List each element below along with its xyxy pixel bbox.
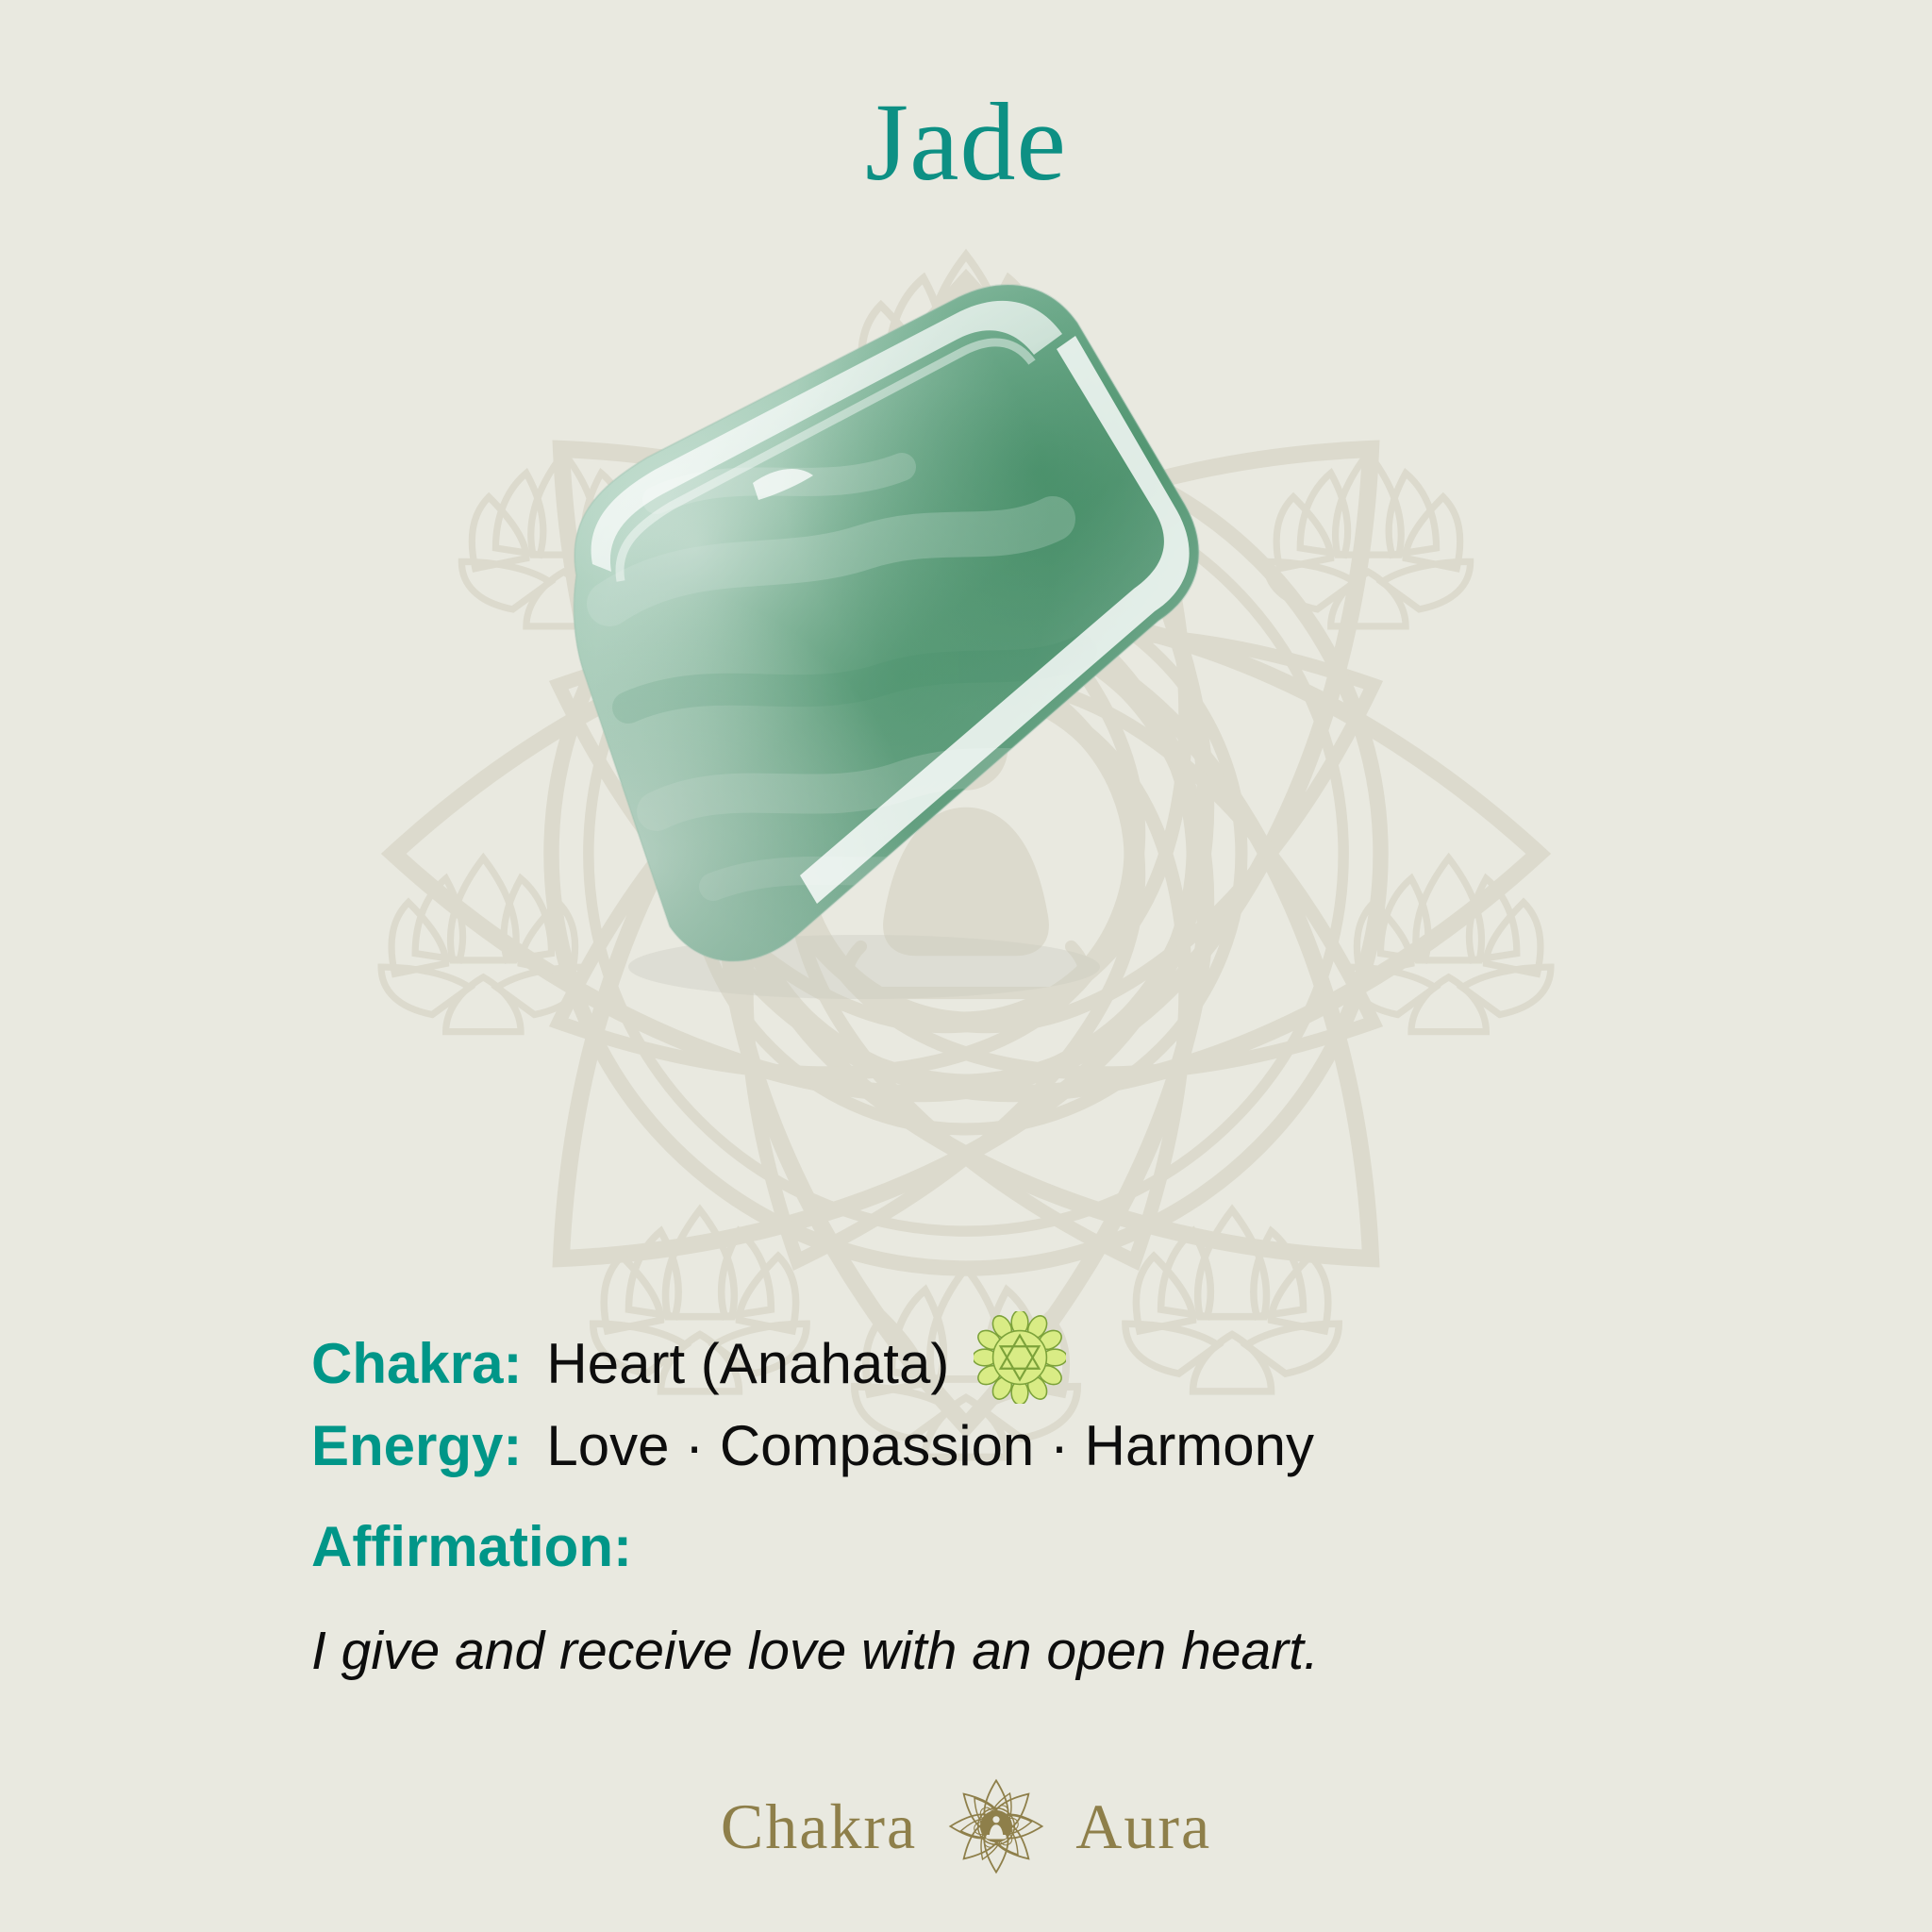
chakra-label: Chakra: xyxy=(311,1334,522,1393)
brand-logo: Chakra xyxy=(0,1775,1932,1877)
crystal-attributes: Chakra: Heart (Anahata) xyxy=(311,1291,1840,1681)
brand-word-aura: Aura xyxy=(1075,1794,1211,1858)
affirmation-text: I give and receive love with an open hea… xyxy=(311,1622,1840,1681)
energy-value: Love · Compassion · Harmony xyxy=(546,1416,1314,1475)
chakra-value: Heart (Anahata) xyxy=(546,1334,949,1393)
energy-row: Energy: Love · Compassion · Harmony xyxy=(311,1416,1840,1475)
brand-word-chakra: Chakra xyxy=(721,1794,917,1858)
heart-chakra-anahata-icon xyxy=(974,1311,1066,1404)
crystal-info-card: Jade xyxy=(0,0,1932,1932)
energy-label: Energy: xyxy=(311,1416,522,1475)
page-title: Jade xyxy=(0,87,1932,198)
jade-stone-image xyxy=(374,264,1223,1094)
chakra-row: Chakra: Heart (Anahata) xyxy=(311,1291,1840,1393)
affirmation-label: Affirmation: xyxy=(311,1517,1840,1576)
lotus-mandala-meditation-icon xyxy=(945,1775,1047,1877)
